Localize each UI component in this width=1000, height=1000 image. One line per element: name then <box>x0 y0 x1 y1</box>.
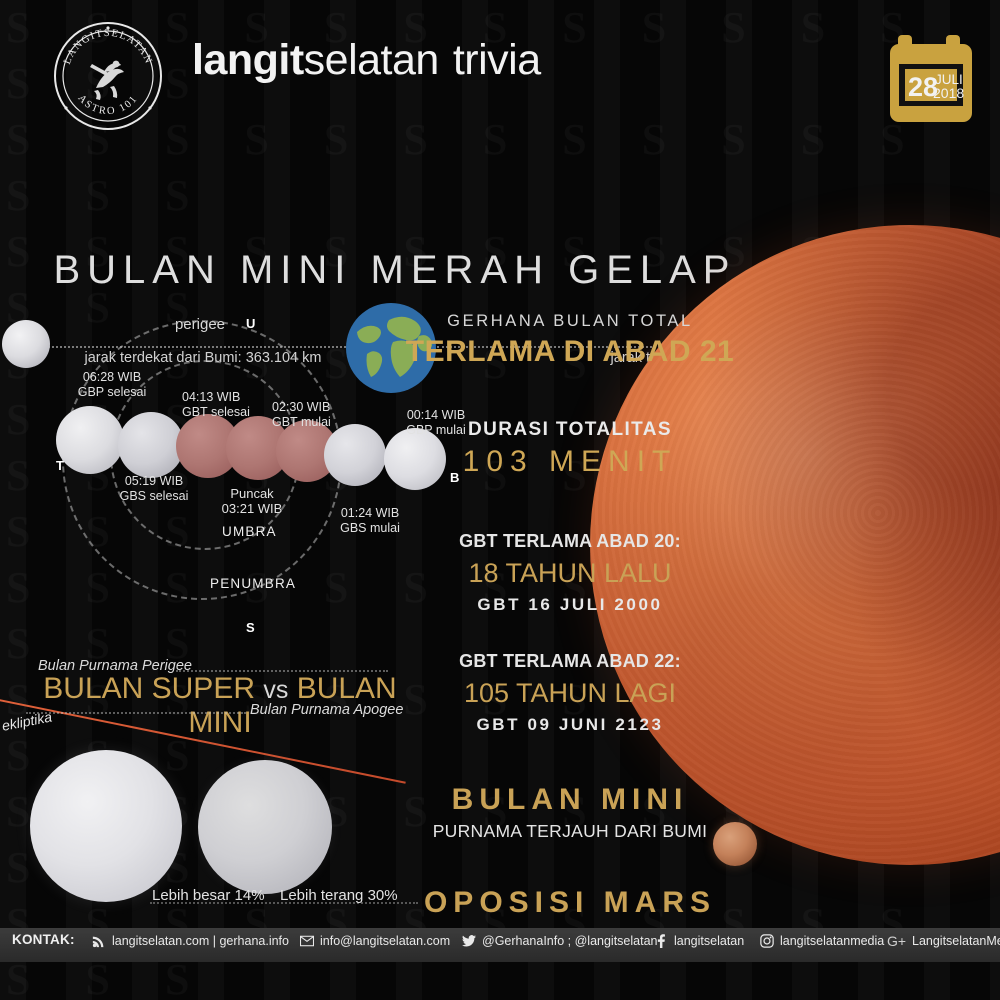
eclipse-moon-2 <box>118 412 184 478</box>
svg-text:ASTRO 101: ASTRO 101 <box>75 93 140 117</box>
envelope-icon <box>300 934 314 948</box>
compare-title-left: BULAN SUPER <box>43 672 255 705</box>
brand-part-trivia: trivia <box>453 36 541 84</box>
page-title: langitselatantrivia <box>192 36 541 85</box>
event-time: 05:19 WIB <box>125 474 183 488</box>
header: LANGITSELATAN ASTRO 101 langitselatantri… <box>0 0 1000 148</box>
footer-item-email[interactable]: info@langitselatan.com <box>300 934 450 948</box>
mars-title: OPOSISI MARS <box>400 886 740 920</box>
googleplus-icon: G+ <box>886 934 906 948</box>
event-desc: GBP selesai <box>78 385 147 399</box>
event-desc: GBS mulai <box>340 521 400 535</box>
brand-part-bold: langit <box>192 36 304 84</box>
peak-time: 03:21 WIB <box>222 501 283 516</box>
footer-item-text: langitselatan <box>674 934 744 948</box>
langitselatan-logo: LANGITSELATAN ASTRO 101 <box>52 20 164 132</box>
footer-item-text: LangitselatanMedia <box>912 934 1000 948</box>
eclipse-kicker: GERHANA BULAN TOTAL <box>400 312 740 331</box>
event-label-gbp-selesai: 06:28 WIB GBP selesai <box>64 370 160 400</box>
instagram-icon <box>760 934 774 948</box>
penumbra-label: PENUMBRA <box>210 576 296 591</box>
eclipse-peak-label: Puncak 03:21 WIB <box>198 486 306 516</box>
compare-title-vs: vs <box>263 676 288 704</box>
abad22-caption: GBT TERLAMA ABAD 22: <box>400 651 740 672</box>
svg-text:G+: G+ <box>887 934 906 948</box>
abad22-date: GBT 09 JUNI 2123 <box>400 715 740 735</box>
calendar-year: 2018 <box>933 85 964 101</box>
footer-item-text: langitselatan.com | gerhana.info <box>112 934 289 948</box>
event-desc: GBT mulai <box>272 415 331 429</box>
footer-kontak-label: KONTAK: <box>12 932 75 947</box>
calendar-icon: 28 JULI 2018 <box>884 30 978 130</box>
compare-bottom-rule <box>26 712 246 714</box>
footer-item-googleplus[interactable]: G+ LangitselatanMedia <box>886 934 1000 948</box>
rss-icon <box>92 934 106 948</box>
footer-item-website[interactable]: langitselatan.com | gerhana.info <box>92 934 289 948</box>
minimoon-title: BULAN MINI <box>400 783 740 817</box>
event-time: 01:24 WIB <box>341 506 399 520</box>
abad22-value: 105 TAHUN LAGI <box>400 678 740 709</box>
footer-item-twitter[interactable]: @GerhanaInfo ; @langitselatan <box>462 934 657 948</box>
umbra-label: UMBRA <box>222 524 277 539</box>
event-time: 04:13 WIB <box>182 390 240 404</box>
event-time: 02:30 WIB <box>272 400 330 414</box>
event-desc: GBT selesai <box>182 405 250 419</box>
compare-foot-left: Lebih besar 14% <box>152 887 265 904</box>
infographic-canvas: S S S S S S S S S S S S S S S S S S S S … <box>0 0 1000 1000</box>
event-label-gbt-mulai: 02:30 WIB GBT mulai <box>272 400 372 430</box>
event-desc: GBS selesai <box>120 489 189 503</box>
abad20-value: 18 TAHUN LALU <box>400 558 740 589</box>
eclipse-headline: TERLAMA DI ABAD 21 <box>400 335 740 369</box>
compare-bottom-label: Bulan Purnama Apogee <box>250 702 403 718</box>
twitter-icon <box>462 934 476 948</box>
peak-word: Puncak <box>230 486 273 501</box>
event-time: 06:28 WIB <box>83 370 141 384</box>
duration-label: DURASI TOTALITAS <box>400 419 740 441</box>
footer-item-text: langitselatanmedia <box>780 934 884 948</box>
stats-column: GERHANA BULAN TOTAL TERLAMA DI ABAD 21 D… <box>400 312 740 945</box>
diagram-mark-s: S <box>246 620 255 635</box>
abad20-date: GBT 16 JULI 2000 <box>400 595 740 615</box>
minimoon-subtitle: PURNAMA TERJAUH DARI BUMI <box>400 821 740 842</box>
supermoon-comparison: Bulan Purnama Perigee BULAN SUPER vs BUL… <box>0 650 430 920</box>
brand-part-light: selatan <box>304 36 439 84</box>
event-label-gbs-selesai: 05:19 WIB GBS selesai <box>106 474 202 504</box>
diagram-mark-t: T <box>56 458 64 473</box>
compare-foot-right: Lebih terang 30% <box>280 887 398 904</box>
duration-value: 103 MENIT <box>400 445 740 479</box>
footer-item-text: info@langitselatan.com <box>320 934 450 948</box>
minimoon-disc <box>198 760 332 894</box>
event-label-gbt-selesai: 04:13 WIB GBT selesai <box>182 390 282 420</box>
eclipse-moon-6 <box>324 424 386 486</box>
main-headline: BULAN MINI MERAH GELAP <box>0 248 790 293</box>
abad20-caption: GBT TERLAMA ABAD 20: <box>400 531 740 552</box>
footer-item-text: @GerhanaInfo ; @langitselatan <box>482 934 657 948</box>
supermoon-disc <box>30 750 182 902</box>
eclipse-moon-1 <box>56 406 124 474</box>
footer-item-instagram[interactable]: langitselatanmedia <box>760 934 884 948</box>
footer-item-facebook[interactable]: langitselatan <box>654 934 744 948</box>
facebook-icon <box>654 934 668 948</box>
diagram-mark-u: U <box>246 316 255 331</box>
